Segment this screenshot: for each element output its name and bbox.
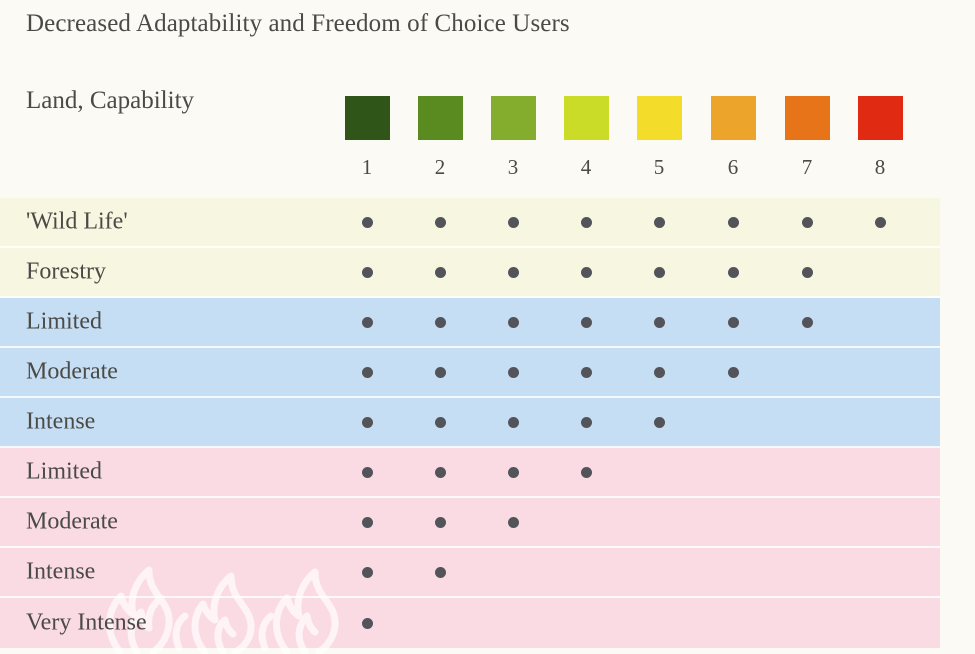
- table-row[interactable]: Forestry: [0, 248, 940, 298]
- legend-tick-6: 6: [711, 155, 756, 180]
- legend-tick-7: 7: [785, 155, 830, 180]
- capability-dot: [802, 267, 813, 278]
- legend-tick-1: 1: [345, 155, 390, 180]
- capability-dot: [581, 367, 592, 378]
- capability-dot: [802, 317, 813, 328]
- capability-dot: [362, 367, 373, 378]
- capability-dot: [508, 417, 519, 428]
- table-row[interactable]: Moderate: [0, 348, 940, 398]
- capability-dot: [362, 517, 373, 528]
- capability-dot: [435, 267, 446, 278]
- capability-dot: [435, 217, 446, 228]
- legend-tick-8: 8: [858, 155, 903, 180]
- capability-dot: [508, 517, 519, 528]
- table-row[interactable]: Limited: [0, 448, 940, 498]
- capability-dot: [581, 467, 592, 478]
- row-label: Limited: [26, 459, 102, 486]
- legend-tick-4: 4: [564, 155, 609, 180]
- row-label: Moderate: [26, 509, 118, 536]
- capability-dot: [654, 317, 665, 328]
- capability-dot: [728, 367, 739, 378]
- legend-swatch-2[interactable]: [418, 96, 463, 140]
- capability-dot: [435, 317, 446, 328]
- table-row[interactable]: Intense: [0, 548, 940, 598]
- capability-dot: [362, 417, 373, 428]
- capability-dot: [728, 217, 739, 228]
- row-label: Forestry: [26, 259, 106, 286]
- capability-dot: [362, 618, 373, 629]
- capability-dot: [728, 317, 739, 328]
- legend-swatch-3[interactable]: [491, 96, 536, 140]
- capability-dot: [435, 467, 446, 478]
- legend-tick-5: 5: [637, 155, 682, 180]
- capability-dot: [435, 517, 446, 528]
- capability-dot: [728, 267, 739, 278]
- table-row[interactable]: Limited: [0, 298, 940, 348]
- legend-swatch-6[interactable]: [711, 96, 756, 140]
- capability-dot: [654, 367, 665, 378]
- capability-dot: [875, 217, 886, 228]
- capability-dot: [362, 467, 373, 478]
- table-row[interactable]: Moderate: [0, 498, 940, 548]
- capability-dot: [654, 417, 665, 428]
- matrix-rows: 'Wild Life'ForestryLimitedModerateIntens…: [0, 198, 940, 648]
- capability-dot: [581, 217, 592, 228]
- capability-dot: [654, 267, 665, 278]
- legend-swatch-8[interactable]: [858, 96, 903, 140]
- legend-tick-2: 2: [418, 155, 463, 180]
- table-row[interactable]: Very Intense: [0, 598, 940, 648]
- row-label: Moderate: [26, 359, 118, 386]
- table-row[interactable]: 'Wild Life': [0, 198, 940, 248]
- row-label: Intense: [26, 409, 95, 436]
- legend-swatch-5[interactable]: [637, 96, 682, 140]
- capability-dot: [508, 317, 519, 328]
- page-title: Decreased Adaptability and Freedom of Ch…: [26, 10, 570, 38]
- capability-dot: [654, 217, 665, 228]
- row-label: 'Wild Life': [26, 209, 128, 236]
- capability-dot: [362, 567, 373, 578]
- row-label: Limited: [26, 309, 102, 336]
- capability-dot: [362, 317, 373, 328]
- capability-dot: [362, 217, 373, 228]
- capability-dot: [362, 267, 373, 278]
- capability-dot: [435, 567, 446, 578]
- legend-swatch-1[interactable]: [345, 96, 390, 140]
- legend-swatch-7[interactable]: [785, 96, 830, 140]
- capability-dot: [508, 217, 519, 228]
- legend-axis-label: Land, Capability: [26, 87, 194, 115]
- capability-dot: [581, 317, 592, 328]
- capability-dot: [802, 217, 813, 228]
- capability-dot: [581, 267, 592, 278]
- row-label: Very Intense: [26, 610, 147, 637]
- capability-dot: [508, 467, 519, 478]
- legend-tick-3: 3: [491, 155, 536, 180]
- capability-dot: [581, 417, 592, 428]
- chart-root: Decreased Adaptability and Freedom of Ch…: [0, 0, 975, 648]
- capability-dot: [435, 417, 446, 428]
- table-row[interactable]: Intense: [0, 398, 940, 448]
- legend-swatch-4[interactable]: [564, 96, 609, 140]
- capability-dot: [435, 367, 446, 378]
- capability-dot: [508, 367, 519, 378]
- capability-dot: [508, 267, 519, 278]
- row-label: Intense: [26, 559, 95, 586]
